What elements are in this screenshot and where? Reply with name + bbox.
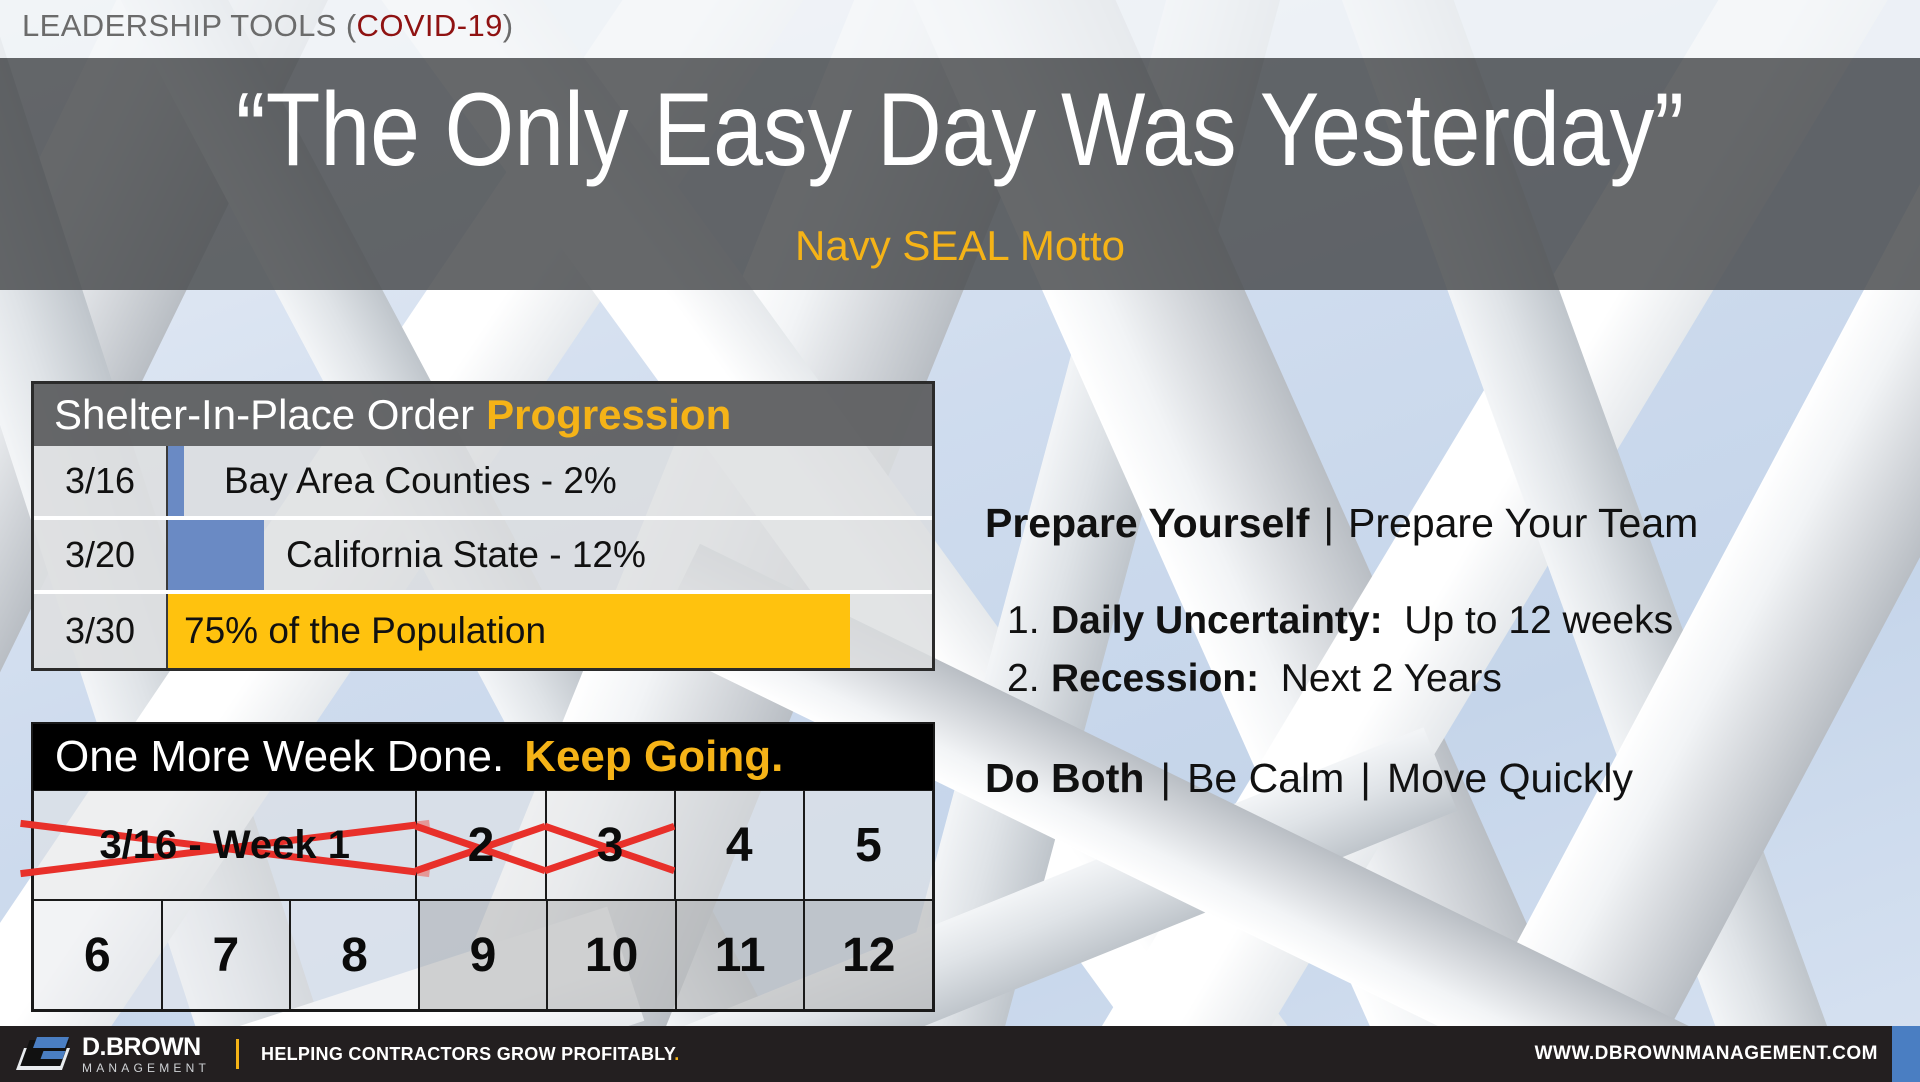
brand-name: D.BROWN bbox=[82, 1035, 210, 1060]
separator-pipe-3: | bbox=[1344, 755, 1387, 801]
week-header: One More Week Done. Keep Going. bbox=[33, 724, 933, 790]
brand-logo[interactable]: D.BROWN MANAGEMENT bbox=[18, 1034, 210, 1074]
week-cell-label: 9 bbox=[470, 928, 497, 983]
hero-attribution: Navy SEAL Motto bbox=[0, 222, 1920, 270]
week-title-plain: One More Week Done. bbox=[55, 732, 504, 782]
sip-row: 3/3075% of the Population bbox=[34, 594, 932, 668]
sip-row-label: California State - 12% bbox=[286, 520, 646, 590]
sip-title-accent: Progression bbox=[486, 391, 731, 439]
week-cell[interactable]: 10 bbox=[547, 900, 676, 1010]
list-item: 1.Daily Uncertainty: Up to 12 weeks bbox=[985, 599, 1895, 643]
separator-pipe-2: | bbox=[1144, 755, 1187, 801]
sip-row-label: 75% of the Population bbox=[184, 594, 546, 668]
week-cell[interactable]: 6 bbox=[33, 900, 162, 1010]
list-item-number: 2. bbox=[985, 657, 1051, 701]
week-cell[interactable]: 9 bbox=[419, 900, 548, 1010]
sip-header: Shelter-In-Place Order Progression bbox=[34, 384, 932, 446]
week-cell-label: 3 bbox=[597, 818, 624, 873]
week-row-2: 6789101112 bbox=[33, 900, 933, 1010]
sip-row-label: Bay Area Counties - 2% bbox=[224, 446, 617, 516]
shelter-in-place-table: Shelter-In-Place Order Progression 3/16B… bbox=[31, 381, 935, 671]
list-item-text: Recession: Next 2 Years bbox=[1051, 657, 1502, 701]
brand-wordmark: D.BROWN MANAGEMENT bbox=[82, 1035, 210, 1074]
sip-column-divider bbox=[166, 446, 168, 516]
do-both-text: Do Both bbox=[985, 755, 1144, 801]
week-cell[interactable]: 8 bbox=[290, 900, 419, 1010]
do-both-line: Do Both|Be Calm|Move Quickly bbox=[985, 755, 1895, 802]
week-cell[interactable]: 3/16 - Week 1 bbox=[33, 790, 416, 900]
week-row-1: 3/16 - Week 12345 bbox=[33, 790, 933, 900]
week-cell[interactable]: 12 bbox=[804, 900, 933, 1010]
sip-date-cell: 3/30 bbox=[34, 594, 166, 668]
footer-divider bbox=[236, 1039, 239, 1069]
week-cell[interactable]: 11 bbox=[676, 900, 805, 1010]
week-cell-label: 5 bbox=[855, 818, 882, 873]
be-calm-text: Be Calm bbox=[1187, 755, 1344, 801]
hero-quote: “The Only Easy Day Was Yesterday” bbox=[134, 78, 1785, 182]
sip-date-cell: 3/20 bbox=[34, 520, 166, 590]
brand-subname: MANAGEMENT bbox=[82, 1062, 210, 1074]
prepare-team-text: Prepare Your Team bbox=[1348, 500, 1698, 546]
sip-title-plain: Shelter-In-Place Order bbox=[54, 391, 474, 439]
numbered-list: 1.Daily Uncertainty: Up to 12 weeks2.Rec… bbox=[985, 599, 1895, 701]
sip-column-divider bbox=[166, 520, 168, 590]
week-cell-label: 11 bbox=[715, 928, 766, 983]
week-cell-label: 10 bbox=[585, 928, 638, 983]
dbrown-cube-icon bbox=[18, 1034, 72, 1074]
footer-accent-block bbox=[1892, 1026, 1920, 1082]
week-cell[interactable]: 7 bbox=[162, 900, 291, 1010]
footer-bar: D.BROWN MANAGEMENT HELPING CONTRACTORS G… bbox=[0, 1026, 1920, 1082]
footer-tagline: HELPING CONTRACTORS GROW PROFITABLY. bbox=[261, 1044, 680, 1065]
week-title-accent: Keep Going. bbox=[524, 732, 783, 782]
week-cell[interactable]: 2 bbox=[416, 790, 545, 900]
sip-row-list: 3/16Bay Area Counties - 2%3/20California… bbox=[34, 446, 932, 668]
right-text-panel: Prepare Yourself|Prepare Your Team 1.Dai… bbox=[985, 500, 1895, 802]
list-item-text: Daily Uncertainty: Up to 12 weeks bbox=[1051, 599, 1673, 643]
week-cell[interactable]: 4 bbox=[675, 790, 804, 900]
sip-progress-bar bbox=[168, 446, 184, 516]
sip-date-cell: 3/16 bbox=[34, 446, 166, 516]
slide-root: LEADERSHIP TOOLS (COVID-19) “The Only Ea… bbox=[0, 0, 1920, 1082]
footer-tagline-dot: . bbox=[674, 1044, 679, 1064]
week-cell-label: 6 bbox=[84, 928, 111, 983]
kicker-tail: ) bbox=[503, 8, 514, 43]
prepare-line: Prepare Yourself|Prepare Your Team bbox=[985, 500, 1895, 547]
week-progress-table: One More Week Done. Keep Going. 3/16 - W… bbox=[31, 722, 935, 1012]
list-item: 2.Recession: Next 2 Years bbox=[985, 657, 1895, 701]
week-cell-label: 7 bbox=[213, 928, 240, 983]
week-grid: 3/16 - Week 12345 6789101112 bbox=[33, 790, 933, 1010]
move-quickly-text: Move Quickly bbox=[1387, 755, 1633, 801]
list-item-number: 1. bbox=[985, 599, 1051, 643]
sip-column-divider bbox=[166, 594, 168, 668]
week-cell[interactable]: 5 bbox=[804, 790, 933, 900]
week-cell-label: 3/16 - Week 1 bbox=[99, 823, 350, 868]
footer-website[interactable]: WWW.DBROWNMANAGEMENT.COM bbox=[1535, 1043, 1878, 1065]
week-cell-label: 12 bbox=[842, 928, 895, 983]
separator-pipe: | bbox=[1309, 500, 1348, 546]
kicker-main: LEADERSHIP TOOLS ( bbox=[22, 8, 357, 43]
sip-row: 3/16Bay Area Counties - 2% bbox=[34, 446, 932, 520]
sip-progress-bar bbox=[168, 520, 264, 590]
week-cell-label: 4 bbox=[726, 818, 753, 873]
kicker-text: LEADERSHIP TOOLS (COVID-19) bbox=[22, 8, 513, 44]
kicker-covid: COVID-19 bbox=[357, 8, 503, 43]
week-cell[interactable]: 3 bbox=[546, 790, 675, 900]
footer-tagline-text: HELPING CONTRACTORS GROW PROFITABLY bbox=[261, 1044, 674, 1064]
week-cell-label: 2 bbox=[468, 818, 495, 873]
week-cell-label: 8 bbox=[341, 928, 368, 983]
top-strip: LEADERSHIP TOOLS (COVID-19) bbox=[0, 0, 1920, 58]
sip-row: 3/20California State - 12% bbox=[34, 520, 932, 594]
prepare-yourself-text: Prepare Yourself bbox=[985, 500, 1309, 546]
